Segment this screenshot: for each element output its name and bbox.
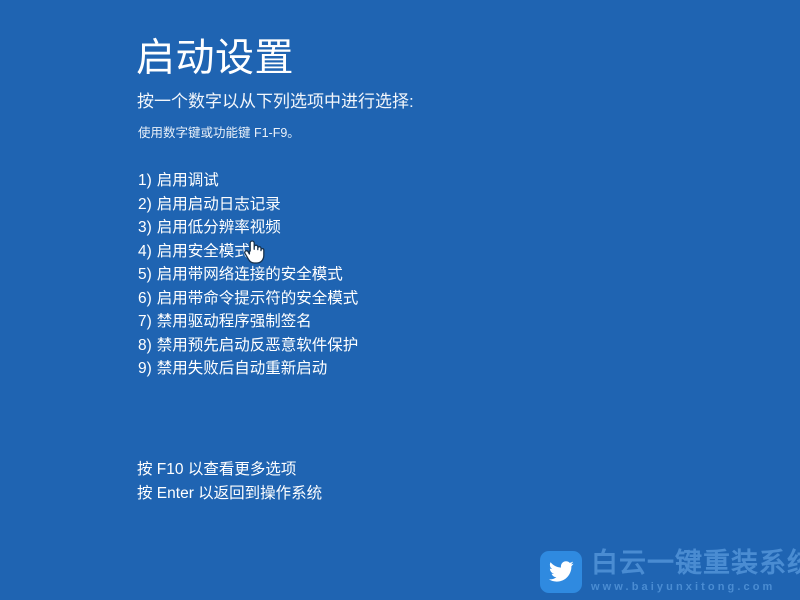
option-label: 启用调试	[157, 169, 219, 193]
option-number: 8)	[138, 334, 152, 358]
footer-key-hints: 按 F10 以查看更多选项 按 Enter 以返回到操作系统	[137, 458, 322, 506]
option-label: 禁用预先启动反恶意软件保护	[157, 334, 359, 358]
option-number: 5)	[138, 263, 152, 287]
page-title: 启动设置	[136, 36, 294, 82]
option-label: 禁用驱动程序强制签名	[157, 310, 312, 334]
watermark-text-block: 白云一键重装系统 www.baiyunxitong.com	[591, 548, 800, 595]
bird-icon	[540, 551, 582, 593]
option-item-7[interactable]: 7)禁用驱动程序强制签名	[138, 310, 358, 334]
option-item-6[interactable]: 6)启用带命令提示符的安全模式	[138, 287, 358, 311]
subtitle-instruction: 按一个数字以从下列选项中进行选择:	[137, 91, 414, 113]
option-label: 启用启动日志记录	[157, 193, 281, 217]
watermark-brand-name: 白云一键重装系统	[591, 548, 800, 578]
footer-more-options[interactable]: 按 F10 以查看更多选项	[137, 458, 322, 482]
option-number: 1)	[138, 169, 152, 193]
footer-return-os[interactable]: 按 Enter 以返回到操作系统	[137, 482, 322, 506]
option-item-8[interactable]: 8)禁用预先启动反恶意软件保护	[138, 334, 358, 358]
option-item-5[interactable]: 5)启用带网络连接的安全模式	[138, 263, 358, 287]
option-number: 6)	[138, 287, 152, 311]
option-number: 3)	[138, 216, 152, 240]
watermark-url: www.baiyunxitong.com	[591, 580, 800, 595]
option-label: 禁用失败后自动重新启动	[157, 357, 328, 381]
option-item-1[interactable]: 1)启用调试	[138, 169, 358, 193]
option-item-9[interactable]: 9)禁用失败后自动重新启动	[138, 357, 358, 381]
option-number: 7)	[138, 310, 152, 334]
option-item-3[interactable]: 3)启用低分辨率视频	[138, 216, 358, 240]
option-label: 启用安全模式	[157, 240, 250, 264]
startup-options-list: 1)启用调试 2)启用启动日志记录 3)启用低分辨率视频 4)启用安全模式 5)…	[138, 169, 358, 381]
option-number: 2)	[138, 193, 152, 217]
option-item-2[interactable]: 2)启用启动日志记录	[138, 193, 358, 217]
option-number: 9)	[138, 357, 152, 381]
option-number: 4)	[138, 240, 152, 264]
startup-settings-screen: 启动设置 按一个数字以从下列选项中进行选择: 使用数字键或功能键 F1-F9。 …	[0, 0, 800, 600]
hint-keys-text: 使用数字键或功能键 F1-F9。	[138, 125, 300, 141]
watermark: 白云一键重装系统 www.baiyunxitong.com	[540, 548, 800, 595]
option-label: 启用低分辨率视频	[157, 216, 281, 240]
option-label: 启用带网络连接的安全模式	[157, 263, 343, 287]
option-label: 启用带命令提示符的安全模式	[157, 287, 359, 311]
option-item-4[interactable]: 4)启用安全模式	[138, 240, 358, 264]
